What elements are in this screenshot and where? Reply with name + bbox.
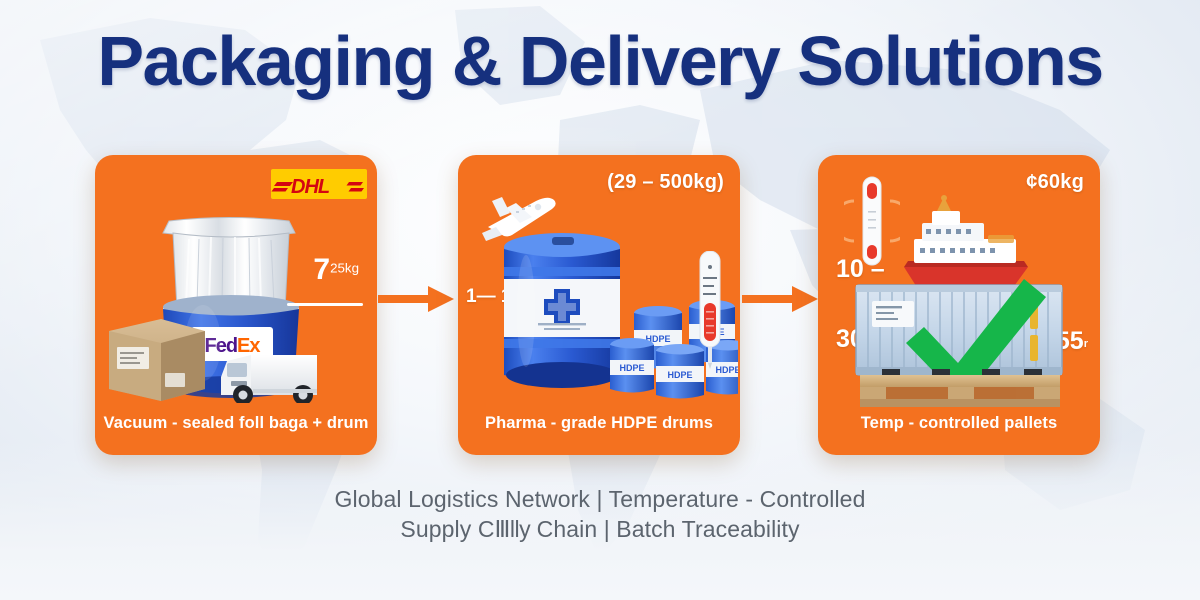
page-title: Packaging & Delivery Solutions — [0, 22, 1200, 100]
weight-unit: 25kg — [330, 261, 359, 276]
card-temp-controlled[interactable]: ¢60kg 10 – 30 – 55r — [818, 155, 1100, 455]
tagline-line-1: Global Logistics Network | Temperature -… — [335, 486, 866, 512]
vacuum-bag-drum-illustration: FedEx — [103, 213, 369, 403]
container-pallet-illustration — [852, 193, 1082, 407]
card-caption: Temp - controlled pallets — [818, 414, 1100, 433]
flow-arrow-1 — [378, 286, 454, 312]
weight-underline — [287, 303, 363, 306]
weight-range-badge: (29 – 500kg) — [607, 171, 724, 194]
tagline: Global Logistics Network | Temperature -… — [0, 484, 1200, 544]
flow-arrow-2 — [742, 286, 818, 312]
card-caption: Vacuum - sealed foll baga + drum — [95, 414, 377, 433]
infographic-canvas: Packaging & Delivery Solutions DHL — [0, 0, 1200, 600]
card-vacuum-sealed[interactable]: DHL — [95, 155, 377, 455]
tagline-garbled-text: Ⅲlly — [495, 516, 531, 542]
svg-text:DHL: DHL — [291, 176, 330, 198]
card-caption: Pharma - grade HDPE drums — [458, 414, 740, 433]
tagline-line-2: Supply CⅢlly Chain | Batch Traceability — [0, 514, 1200, 544]
weight-badge: ¢60kg — [1026, 171, 1084, 194]
dhl-logo-icon: DHL — [271, 169, 367, 199]
svg-text:HDPE: HDPE — [619, 363, 644, 373]
weight-label: 725kg — [313, 255, 359, 285]
card-pharma-hdpe[interactable]: (29 – 500kg) 1— 15r — [458, 155, 740, 455]
weight-value: 7 — [313, 253, 330, 286]
thermometer-icon — [692, 251, 728, 369]
svg-text:HDPE: HDPE — [667, 370, 692, 380]
